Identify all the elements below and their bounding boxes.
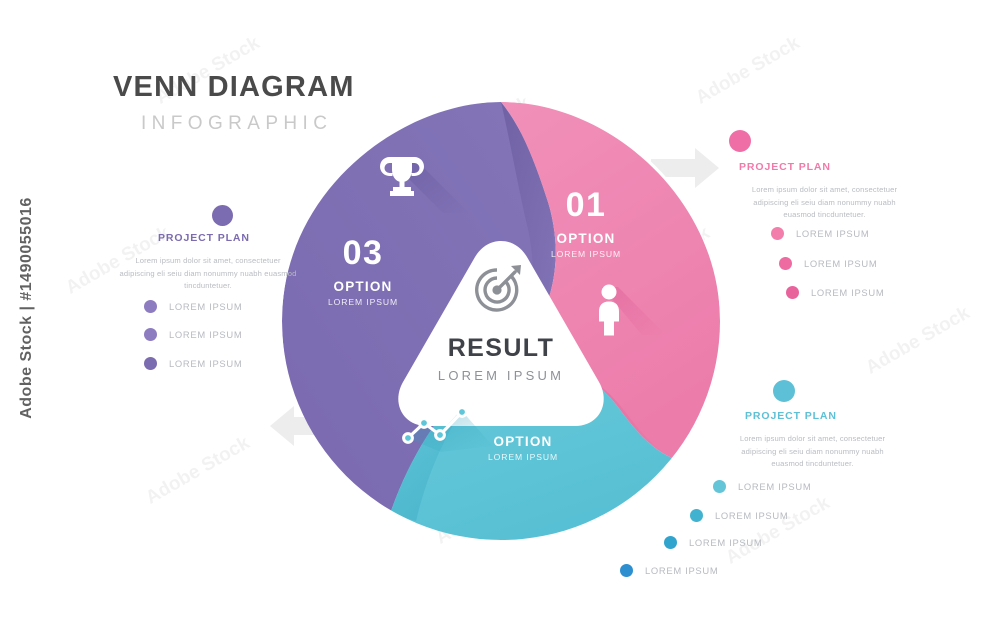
watermark-tile: Adobe Stock [862, 302, 974, 379]
bullet-dot [771, 227, 784, 240]
bullet-dot [144, 300, 157, 313]
bullet-label: LOREM IPSUM [738, 481, 811, 492]
info-block-left-dot [212, 205, 233, 226]
bullet-dot [779, 257, 792, 270]
bullet-dot [144, 328, 157, 341]
list-item[interactable]: LOREM IPSUM [713, 480, 811, 493]
watermark-tile: Adobe Stock [142, 432, 254, 509]
bullet-label: LOREM IPSUM [169, 301, 242, 312]
list-item[interactable]: LOREM IPSUM [690, 509, 788, 522]
watermark-tile: Adobe Stock [692, 32, 804, 109]
bullet-label: LOREM IPSUM [169, 329, 242, 340]
bullet-label: LOREM IPSUM [689, 537, 762, 548]
info-block-bottom-heading: PROJECT PLAN [745, 410, 837, 422]
bullet-label: LOREM IPSUM [645, 565, 718, 576]
info-block-right-dot [729, 130, 751, 152]
bullet-label: LOREM IPSUM [796, 228, 869, 239]
infographic-canvas: Adobe Stock Adobe Stock Adobe Stock Adob… [0, 0, 1000, 633]
list-item[interactable]: LOREM IPSUM [786, 286, 884, 299]
list-item[interactable]: LOREM IPSUM [620, 564, 718, 577]
bullet-dot [713, 480, 726, 493]
bullet-dot [664, 536, 677, 549]
page-title: VENN DIAGRAM [113, 72, 355, 104]
info-block-left-paragraph: Lorem ipsum dolor sit amet, consectetuer… [118, 255, 298, 293]
info-block-right-heading: PROJECT PLAN [739, 161, 831, 173]
list-item[interactable]: LOREM IPSUM [664, 536, 762, 549]
bullet-label: LOREM IPSUM [715, 510, 788, 521]
list-item[interactable]: LOREM IPSUM [144, 357, 242, 370]
watermark-tile: Adobe Stock [722, 492, 834, 569]
list-item[interactable]: LOREM IPSUM [779, 257, 877, 270]
bullet-dot [690, 509, 703, 522]
info-block-bottom-dot [773, 380, 795, 402]
bullet-label: LOREM IPSUM [811, 287, 884, 298]
venn-circle-diagram: 01 OPTION LOREM IPSUM 03 OPTION LOREM IP… [281, 101, 721, 541]
info-block-left-heading: PROJECT PLAN [158, 232, 250, 244]
list-item[interactable]: LOREM IPSUM [771, 227, 869, 240]
bullet-dot [620, 564, 633, 577]
list-item[interactable]: LOREM IPSUM [144, 300, 242, 313]
bullet-dot [144, 357, 157, 370]
bullet-label: LOREM IPSUM [804, 258, 877, 269]
info-block-bottom-paragraph: Lorem ipsum dolor sit amet, consectetuer… [730, 433, 895, 471]
info-block-right-paragraph: Lorem ipsum dolor sit amet, consectetuer… [737, 184, 912, 222]
stock-watermark: Adobe Stock | #1490055016 [18, 197, 36, 419]
bullet-label: LOREM IPSUM [169, 358, 242, 369]
list-item[interactable]: LOREM IPSUM [144, 328, 242, 341]
bullet-dot [786, 286, 799, 299]
